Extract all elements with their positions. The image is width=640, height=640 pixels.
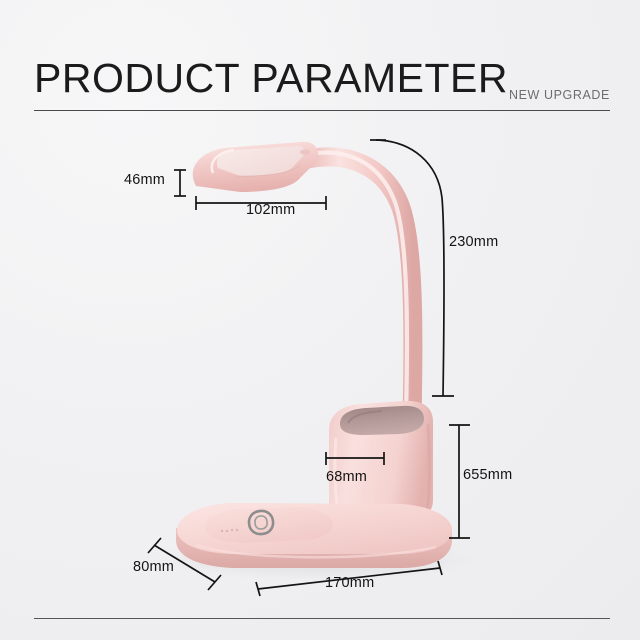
dimension-line-230mm	[370, 140, 454, 396]
dimension-label-230mm: 230mm	[449, 234, 498, 250]
dimension-label-170mm: 170mm	[325, 575, 374, 591]
dimension-label-46mm: 46mm	[124, 172, 165, 188]
dimension-label-102mm: 102mm	[246, 202, 295, 218]
dimension-line-46mm	[174, 170, 186, 196]
dimension-label-655mm: 655mm	[463, 467, 512, 483]
dimension-label-80mm: 80mm	[133, 559, 174, 575]
dimension-line-68mm	[326, 452, 384, 465]
dimension-label-68mm: 68mm	[326, 469, 367, 485]
product-parameter-page: PRODUCT PARAMETER NEW UPGRADE	[0, 0, 640, 640]
dimension-annotations	[0, 0, 640, 640]
